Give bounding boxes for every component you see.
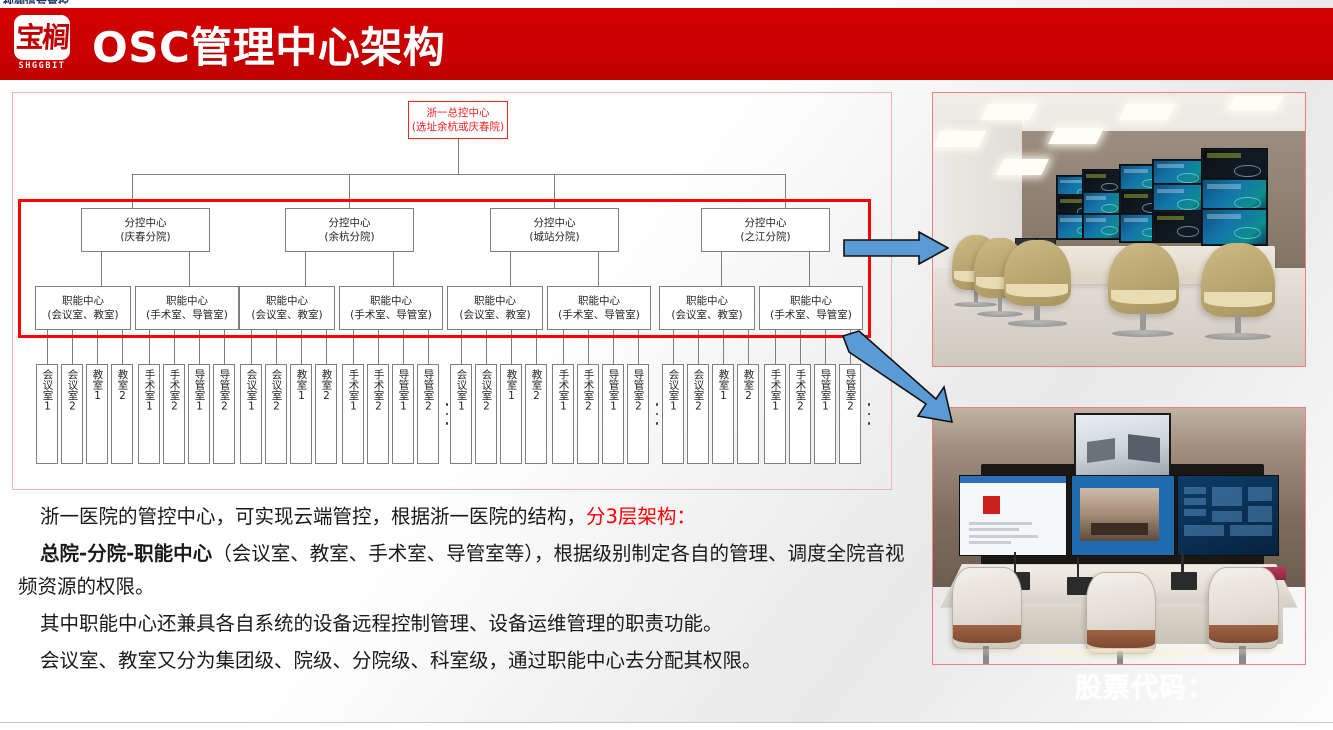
leaf-label: 会议室1 [455, 369, 468, 413]
photo1-ceiling-light [933, 131, 986, 147]
leaf-node: 导管室2 [627, 364, 649, 464]
logo-calligraphy-mark: 宝榈 [15, 24, 69, 52]
node-line-1: 职能中心 [790, 294, 832, 308]
leaf-node: 教室2 [737, 364, 759, 464]
photo1-videowall-panel [1152, 210, 1204, 243]
leaf-node: 导管室2 [417, 364, 439, 464]
diagram-node-level2-3: 分控中心 (城站分院) [490, 208, 619, 252]
leaf-node: 手术室1 [138, 364, 160, 464]
leaf-label: 会议室2 [480, 369, 493, 413]
slide-canvas: 视频信号管控 宝榈 SHGGBIT OSC管理中心架构 浙一总控中心 (选址余杭… [0, 0, 1333, 730]
leaf-node: 会议室2 [687, 364, 709, 464]
company-logo: 宝榈 SHGGBIT [10, 15, 74, 73]
leaf-node: 会议室1 [36, 364, 58, 464]
photo-conference-control-room [932, 407, 1306, 665]
leaf-node: 教室2 [111, 364, 133, 464]
paragraph-2-bold: 总院-分院-职能中心 [40, 542, 212, 565]
leaf-node: 手术室2 [367, 364, 389, 464]
node-line-1: 职能中心 [578, 294, 620, 308]
arrow-to-photo-2 [840, 330, 960, 426]
photo-control-room-render [932, 92, 1306, 367]
leaf-label: 手术室2 [168, 369, 181, 413]
photo2-floor-glow [937, 649, 1302, 659]
photo1-chair [1004, 240, 1071, 306]
paragraph-1-highlight: 分3层架构： [586, 505, 696, 528]
diagram-node-level3-3: 职能中心 (会议室、教室) [239, 286, 335, 330]
leaf-node: 导管室1 [188, 364, 210, 464]
diagram-node-level3-2: 职能中心 (手术室、导管室) [135, 286, 239, 330]
photo1-videowall-panel [1201, 208, 1268, 246]
leaf-node: 会议室2 [61, 364, 83, 464]
paragraph-3: 其中职能中心还兼具各自系统的设备远程控制管理、设备运维管理的职责功能。 [18, 607, 923, 640]
photo2-screen-center [1071, 475, 1175, 557]
photo1-ceiling-light [981, 104, 1037, 120]
node-line-1: 职能中心 [370, 294, 412, 308]
leaf-label: 导管室2 [632, 369, 645, 413]
diagram-node-level2-4: 分控中心 (之江分院) [701, 208, 830, 252]
leaf-node: 教室1 [86, 364, 108, 464]
leaf-node: 手术室1 [552, 364, 574, 464]
leaf-label: 教室1 [717, 369, 730, 402]
photo2-chair [1208, 567, 1279, 649]
logo-wordmark: SHGGBIT [18, 61, 65, 71]
diagram-node-level2-2: 分控中心 (余杭分院) [285, 208, 414, 252]
node-line-2: (手术室、导管室) [146, 308, 228, 322]
description-text-block: 浙一医院的管控中心，可实现云端管控，根据浙一医院的结构，分3层架构： 总院-分院… [18, 500, 923, 681]
photo1-ceiling-light [996, 159, 1049, 175]
node-line-2: (手术室、导管室) [770, 308, 852, 322]
leaf-node: 会议室1 [662, 364, 684, 464]
leaf-node: 教室1 [290, 364, 312, 464]
node-line-2: (之江分院) [740, 230, 790, 244]
leaf-label: 导管室1 [397, 369, 410, 413]
node-line-1: 分控中心 [534, 216, 576, 230]
node-line-2: (会议室、教室) [459, 308, 530, 322]
node-line-2: (余杭分院) [324, 230, 374, 244]
photo2-chair [952, 567, 1023, 649]
photo1-ceiling-light [1048, 128, 1104, 144]
leaf-label: 手术室2 [794, 369, 807, 413]
page-title: OSC管理中心架构 [92, 14, 445, 75]
diagram-node-level2-1: 分控中心 (庆春分院) [81, 208, 210, 252]
diagram-node-level3-4: 职能中心 (手术室、导管室) [339, 286, 443, 330]
photo1-videowall-panel [1082, 213, 1123, 240]
footer-strip [0, 723, 1333, 730]
node-line-1: 职能中心 [686, 294, 728, 308]
leaf-label: 手术室1 [769, 369, 782, 413]
leaf-label: 手术室1 [347, 369, 360, 413]
leaf-label: 手术室1 [557, 369, 570, 413]
leaf-node: 导管室2 [213, 364, 235, 464]
photo1-ceiling-light [1227, 96, 1282, 110]
leaf-label: 教室1 [505, 369, 518, 402]
node-line-2: (会议室、教室) [251, 308, 322, 322]
leaf-label: 手术室2 [372, 369, 385, 413]
leaf-node: 手术室2 [577, 364, 599, 464]
leaf-label: 教室2 [320, 369, 333, 402]
node-line-2: (城站分院) [529, 230, 579, 244]
photo1-chair [1201, 243, 1275, 317]
leaf-node: 会议室1 [240, 364, 262, 464]
leaf-node: 导管室1 [814, 364, 836, 464]
node-line-1: 职能中心 [166, 294, 208, 308]
leaf-label: 教室2 [116, 369, 129, 402]
node-line-1: 分控中心 [329, 216, 371, 230]
photo2-screen-left [959, 475, 1067, 557]
leaf-label: 教室2 [530, 369, 543, 402]
node-line-1: 职能中心 [266, 294, 308, 308]
slide-header-banner: 宝榈 SHGGBIT OSC管理中心架构 [0, 8, 1333, 80]
node-line-1: 分控中心 [745, 216, 787, 230]
node-line-2: (手术室、导管室) [350, 308, 432, 322]
leaf-node: 导管室1 [602, 364, 624, 464]
diagram-node-level3-5: 职能中心 (会议室、教室) [447, 286, 543, 330]
cutoff-top-text: 视频信号管控 [3, 0, 69, 4]
leaf-label: 教室1 [295, 369, 308, 402]
leaf-node: 会议室1 [450, 364, 472, 464]
diagram-node-level3-1: 职能中心 (会议室、教室) [35, 286, 131, 330]
leaf-label: 导管室1 [193, 369, 206, 413]
connector-level2-bus [132, 174, 785, 175]
leaf-label: 会议室1 [245, 369, 258, 413]
leaf-label: 教室1 [91, 369, 104, 402]
leaf-node: 手术室2 [789, 364, 811, 464]
photo2-microphone [1171, 572, 1197, 590]
diagram-node-level3-6: 职能中心 (手术室、导管室) [547, 286, 651, 330]
node-line-2: (手术室、导管室) [558, 308, 640, 322]
node-line-2: (会议室、教室) [671, 308, 742, 322]
stock-code-watermark: 股票代码： [1075, 666, 1215, 705]
node-line-2: (会议室、教室) [47, 308, 118, 322]
paragraph-4: 会议室、教室又分为集团级、院级、分院级、科室级，通过职能中心去分配其权限。 [18, 644, 923, 677]
leaf-label: 教室2 [742, 369, 755, 402]
paragraph-1-text: 浙一医院的管控中心，可实现云端管控，根据浙一医院的结构， [40, 505, 586, 528]
leaf-node: 导管室1 [392, 364, 414, 464]
diagram-node-root: 浙一总控中心 (选址余杭或庆春院) [408, 101, 508, 139]
leaf-node: 手术室2 [163, 364, 185, 464]
leaf-label: 导管室1 [607, 369, 620, 413]
photo1-chair [1108, 243, 1179, 314]
photo2-chair [1086, 572, 1157, 654]
org-diagram-panel: 浙一总控中心 (选址余杭或庆春院) 分控中心 (庆春分院) 分控中心 (余杭分院… [12, 92, 892, 490]
arrow-to-photo-1 [843, 231, 949, 265]
leaf-label: 手术室1 [143, 369, 156, 413]
node-line-1: 职能中心 [62, 294, 104, 308]
node-line-1: 分控中心 [125, 216, 167, 230]
diagram-node-level3-7: 职能中心 (会议室、教室) [659, 286, 755, 330]
photo2-screen-right [1177, 475, 1279, 557]
leaf-label: 导管室2 [422, 369, 435, 413]
leaf-node: 会议室2 [265, 364, 287, 464]
logo-tile: 宝榈 [14, 15, 70, 60]
leaf-label: 会议室1 [667, 369, 680, 413]
node-line-1: 职能中心 [474, 294, 516, 308]
leaf-node: 教室2 [525, 364, 547, 464]
node-line-2: (选址余杭或庆春院) [412, 120, 504, 134]
leaf-node: 教室1 [712, 364, 734, 464]
leaf-label: 会议室2 [692, 369, 705, 413]
node-line-2: (庆春分院) [120, 230, 170, 244]
leaf-label: 会议室2 [66, 369, 79, 413]
leaf-node: 会议室2 [475, 364, 497, 464]
paragraph-1: 浙一医院的管控中心，可实现云端管控，根据浙一医院的结构，分3层架构： [18, 500, 923, 533]
photo2-overhead-screen [1074, 413, 1171, 480]
leaf-label: 会议室2 [270, 369, 283, 413]
leaf-label: 导管室1 [819, 369, 832, 413]
connector-root-stem [458, 139, 459, 174]
paragraph-2: 总院-分院-职能中心（会议室、教室、手术室、导管室等），根据级别制定各自的管理、… [18, 537, 923, 603]
node-line-1: 浙一总控中心 [427, 106, 490, 120]
leaf-label: 手术室2 [582, 369, 595, 413]
leaf-node: 教室2 [315, 364, 337, 464]
photo1-ceiling-light [1119, 104, 1175, 120]
leaf-label: 会议室1 [41, 369, 54, 413]
leaf-node: 手术室1 [764, 364, 786, 464]
leaf-node: 教室1 [500, 364, 522, 464]
diagram-node-level3-8: 职能中心 (手术室、导管室) [759, 286, 863, 330]
leaf-label: 导管室2 [218, 369, 231, 413]
leaf-node: 手术室1 [342, 364, 364, 464]
